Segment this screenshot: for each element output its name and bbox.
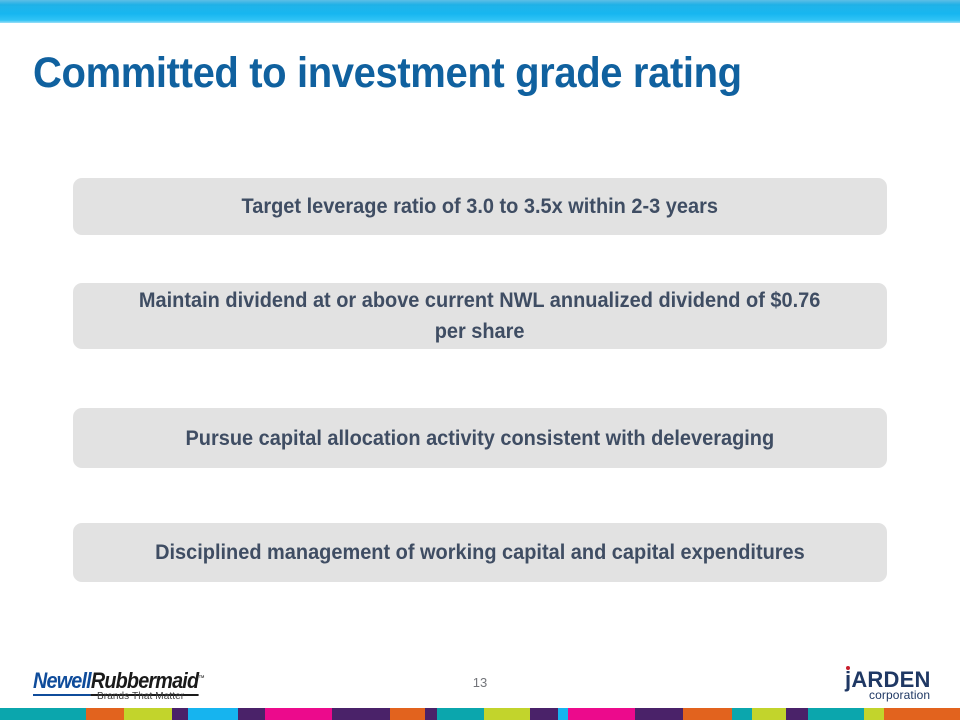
color-strip-segment: [484, 708, 530, 720]
color-strip-segment: [808, 708, 864, 720]
newell-wordmark-text: Newell: [33, 668, 91, 696]
jarden-subtitle: corporation: [869, 688, 930, 702]
color-strip-segment: [732, 708, 752, 720]
color-strip-segment: [265, 708, 332, 720]
content-box-2-line-2: per share: [435, 320, 525, 343]
content-box-1: Target leverage ratio of 3.0 to 3.5x wit…: [73, 178, 887, 235]
newell-rubbermaid-logo: NewellRubbermaid™ Brands That Matter: [33, 666, 208, 702]
jarden-letter-j: j: [845, 667, 851, 692]
color-strip-segment: [558, 708, 568, 720]
slide-canvas: Committed to investment grade rating Tar…: [0, 0, 960, 720]
content-box-3-line-1: Pursue capital allocation activity consi…: [186, 427, 775, 450]
color-strip-segment: [188, 708, 238, 720]
trademark-icon: ™: [198, 675, 203, 682]
color-strip-segment: [568, 708, 635, 720]
content-box-2: Maintain dividend at or above current NW…: [73, 283, 887, 349]
content-box-4-line-1: Disciplined management of working capita…: [155, 541, 805, 564]
color-strip-segment: [884, 708, 960, 720]
color-strip-segment: [752, 708, 786, 720]
content-box-3-text: Pursue capital allocation activity consi…: [186, 423, 775, 454]
content-box-4: Disciplined management of working capita…: [73, 523, 887, 582]
color-strip-segment: [238, 708, 265, 720]
color-strip-segment: [786, 708, 808, 720]
color-strip-segment: [390, 708, 425, 720]
color-strip-segment: [332, 708, 390, 720]
color-strip-segment: [172, 708, 188, 720]
bottom-color-strip: [0, 708, 960, 720]
top-banner-highlight: [0, 0, 960, 5]
color-strip-segment: [864, 708, 884, 720]
color-strip-segment: [425, 708, 437, 720]
content-box-1-text: Target leverage ratio of 3.0 to 3.5x wit…: [242, 191, 718, 222]
color-strip-segment: [530, 708, 558, 720]
color-strip-segment: [0, 708, 86, 720]
content-box-3: Pursue capital allocation activity consi…: [73, 408, 887, 468]
content-box-4-text: Disciplined management of working capita…: [155, 537, 805, 568]
color-strip-segment: [635, 708, 683, 720]
content-box-1-line-1: Target leverage ratio of 3.0 to 3.5x wit…: [242, 195, 718, 218]
newell-tagline: Brands That Matter: [97, 691, 184, 702]
content-box-2-line-1: Maintain dividend at or above current NW…: [139, 289, 820, 312]
color-strip-segment: [86, 708, 124, 720]
color-strip-segment: [124, 708, 172, 720]
jarden-corporation-logo: jARDEN corporation: [845, 668, 945, 702]
color-strip-segment: [683, 708, 732, 720]
page-title: Committed to investment grade rating: [33, 45, 861, 101]
content-box-2-text: Maintain dividend at or above current NW…: [139, 285, 820, 347]
top-banner: [0, 0, 960, 23]
color-strip-segment: [437, 708, 484, 720]
